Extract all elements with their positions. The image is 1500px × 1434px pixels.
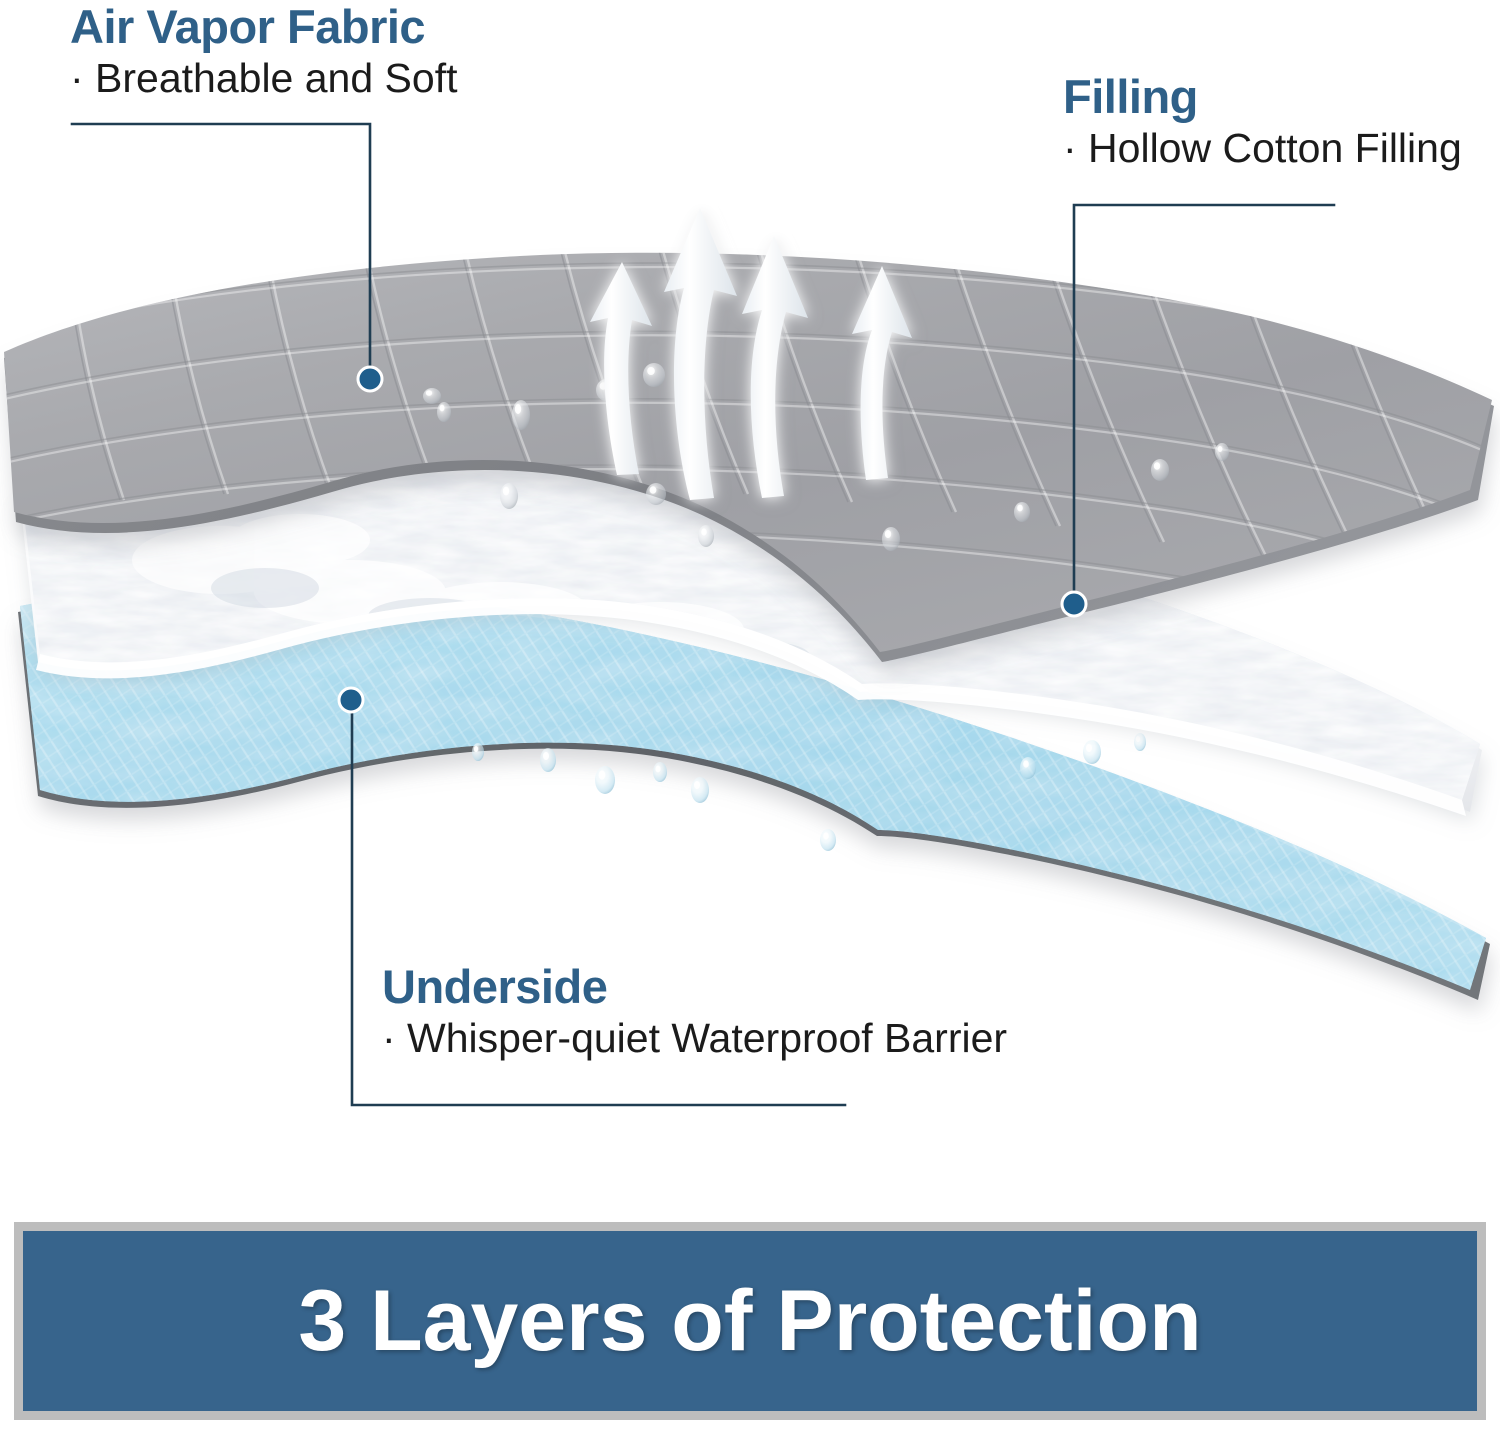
banner-fill: 3 Layers of Protection — [23, 1231, 1477, 1411]
banner-headline: 3 Layers of Protection — [298, 1278, 1201, 1364]
marker-dot-air-vapor-fabric — [358, 367, 382, 391]
callout-air-vapor-fabric: Air Vapor Fabric · Breathable and Soft — [70, 2, 457, 102]
callout-filling: Filling · Hollow Cotton Filling — [1063, 72, 1462, 172]
marker-dot-filling — [1062, 592, 1086, 616]
bottom-banner: 3 Layers of Protection — [14, 1222, 1486, 1420]
callout-subtitle-underside: · Whisper-quiet Waterproof Barrier — [382, 1015, 1007, 1062]
callout-subtitle-air-vapor-fabric: · Breathable and Soft — [70, 55, 457, 102]
infographic-page: Air Vapor Fabric · Breathable and Soft F… — [0, 0, 1500, 1434]
marker-dot-underside — [339, 688, 363, 712]
callout-title-filling: Filling — [1063, 72, 1462, 121]
callout-underside: Underside · Whisper-quiet Waterproof Bar… — [382, 962, 1007, 1062]
callout-title-underside: Underside — [382, 962, 1007, 1011]
callout-subtitle-filling: · Hollow Cotton Filling — [1063, 125, 1462, 172]
callout-title-air-vapor-fabric: Air Vapor Fabric — [70, 2, 457, 51]
